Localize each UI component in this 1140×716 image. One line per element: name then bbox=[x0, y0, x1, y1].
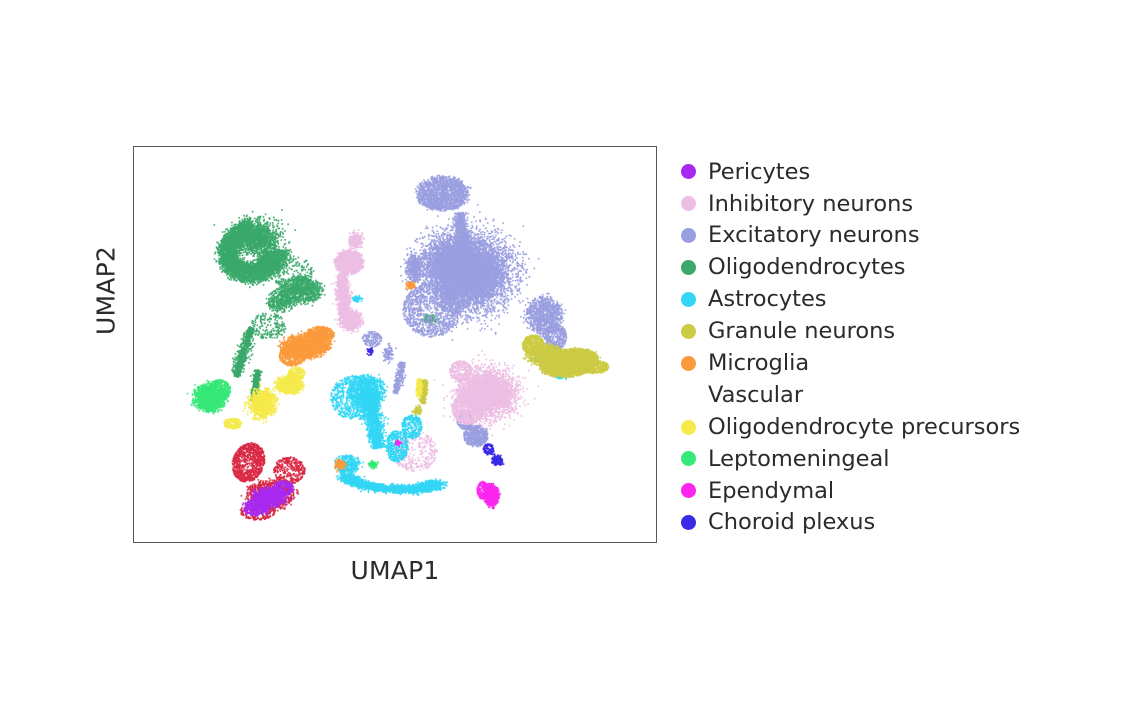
legend-item-label: Pericytes bbox=[708, 161, 810, 184]
umap-figure: UMAP2 UMAP1 PericytesInhibitory neuronsE… bbox=[0, 0, 1140, 716]
legend-color-dot bbox=[681, 451, 696, 466]
legend-item-label: Choroid plexus bbox=[708, 511, 875, 534]
legend-item[interactable]: Microglia bbox=[681, 347, 1020, 379]
legend-color-dot bbox=[681, 420, 696, 435]
scatter-plot-panel[interactable] bbox=[133, 146, 657, 543]
legend-item[interactable]: Pericytes bbox=[681, 156, 1020, 188]
legend-item[interactable]: Vascular bbox=[681, 379, 1020, 411]
legend-item[interactable]: Ependymal bbox=[681, 475, 1020, 507]
legend-item-label: Oligodendrocytes bbox=[708, 256, 906, 279]
legend-item-label: Microglia bbox=[708, 352, 809, 375]
legend: PericytesInhibitory neuronsExcitatory ne… bbox=[681, 156, 1020, 539]
legend-item-label: Oligodendrocyte precursors bbox=[708, 416, 1020, 439]
legend-item[interactable]: Granule neurons bbox=[681, 315, 1020, 347]
legend-item-label: Granule neurons bbox=[708, 320, 895, 343]
legend-color-dot bbox=[681, 515, 696, 530]
legend-item[interactable]: Astrocytes bbox=[681, 284, 1020, 316]
legend-color-dot bbox=[681, 324, 696, 339]
legend-item-label: Inhibitory neurons bbox=[708, 193, 913, 216]
x-axis-label: UMAP1 bbox=[133, 556, 657, 585]
umap-scatter-canvas[interactable] bbox=[134, 147, 656, 542]
legend-color-dot bbox=[681, 164, 696, 179]
legend-color-dot bbox=[681, 483, 696, 498]
legend-item[interactable]: Choroid plexus bbox=[681, 507, 1020, 539]
legend-item-label: Vascular bbox=[708, 384, 803, 407]
legend-item[interactable]: Leptomeningeal bbox=[681, 443, 1020, 475]
legend-color-dot bbox=[681, 196, 696, 211]
legend-color-dot bbox=[681, 260, 696, 275]
legend-item[interactable]: Oligodendrocytes bbox=[681, 252, 1020, 284]
legend-item-label: Ependymal bbox=[708, 480, 834, 503]
legend-color-dot bbox=[681, 228, 696, 243]
y-axis-label: UMAP2 bbox=[92, 181, 121, 401]
legend-color-dot bbox=[681, 388, 696, 403]
legend-item-label: Excitatory neurons bbox=[708, 224, 920, 247]
legend-color-dot bbox=[681, 292, 696, 307]
legend-item[interactable]: Inhibitory neurons bbox=[681, 188, 1020, 220]
legend-color-dot bbox=[681, 356, 696, 371]
legend-item[interactable]: Excitatory neurons bbox=[681, 220, 1020, 252]
legend-item-label: Astrocytes bbox=[708, 288, 827, 311]
legend-item-label: Leptomeningeal bbox=[708, 448, 890, 471]
legend-item[interactable]: Oligodendrocyte precursors bbox=[681, 411, 1020, 443]
